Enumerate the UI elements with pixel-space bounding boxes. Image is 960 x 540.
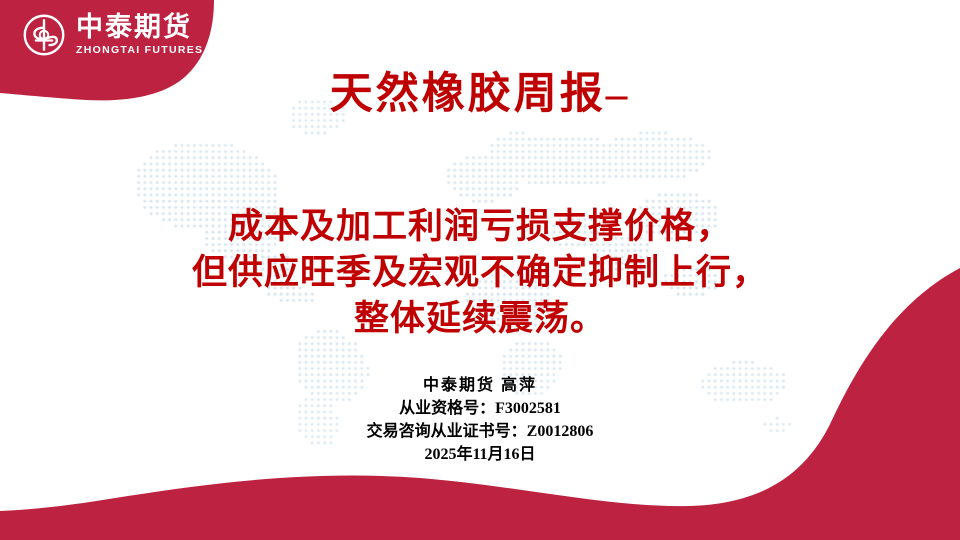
headline-block: 成本及加工利润亏损支撑价格， 但供应旺季及宏观不确定抑制上行， 整体延续震荡。 (0, 204, 960, 342)
page-title: 天然橡胶周报– (0, 72, 960, 117)
byline-qualification: 从业资格号：F3002581 (0, 397, 960, 420)
zhongtai-circular-emblem-icon (22, 13, 66, 57)
brand-wordmark: 中泰期货 ZHONGTAI FUTURES (76, 14, 203, 56)
brand-logo: 中泰期货 ZHONGTAI FUTURES (22, 13, 203, 57)
byline-date: 2025年11月16日 (0, 443, 960, 466)
slide-content: 天然橡胶周报– 成本及加工利润亏损支撑价格， 但供应旺季及宏观不确定抑制上行， … (0, 0, 960, 540)
byline-consulting-cert: 交易咨询从业证书号：Z0012806 (0, 420, 960, 443)
headline-line-3: 整体延续震荡。 (0, 296, 960, 342)
byline-author: 中泰期货 高萍 (0, 374, 960, 397)
cover-slide: 中泰期货 ZHONGTAI FUTURES 天然橡胶周报– 成本及加工利润亏损支… (0, 0, 960, 540)
byline-block: 中泰期货 高萍 从业资格号：F3002581 交易咨询从业证书号：Z001280… (0, 374, 960, 466)
headline-line-1: 成本及加工利润亏损支撑价格， (0, 204, 960, 250)
headline-line-2: 但供应旺季及宏观不确定抑制上行， (0, 250, 960, 296)
brand-name-en: ZHONGTAI FUTURES (76, 45, 203, 56)
brand-name-cn: 中泰期货 (76, 14, 203, 41)
